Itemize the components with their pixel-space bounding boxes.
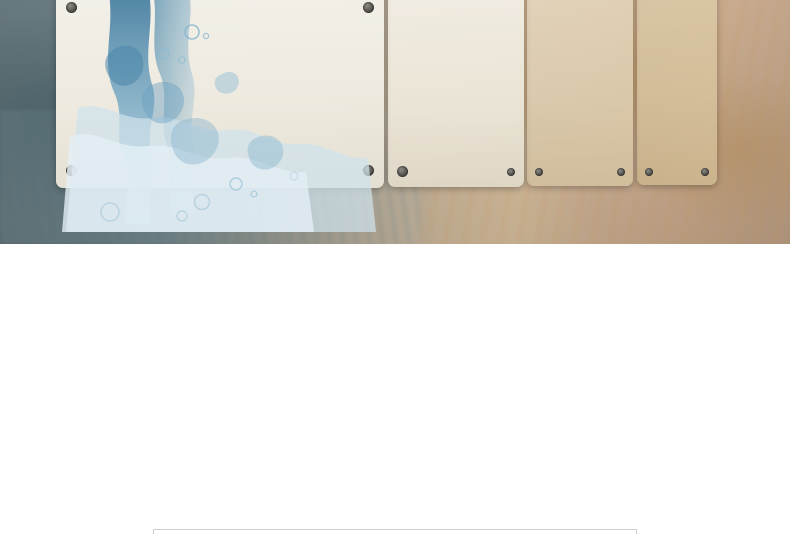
screw-icon bbox=[397, 166, 408, 177]
title-frame bbox=[153, 529, 637, 534]
screw-icon bbox=[363, 165, 374, 176]
enclosure-plate-2 bbox=[388, 0, 524, 187]
plate-sand-tint bbox=[637, 0, 717, 185]
enclosure-plate-4 bbox=[637, 0, 717, 185]
screw-icon bbox=[363, 2, 374, 13]
screw-icon bbox=[701, 168, 709, 176]
screw-icon bbox=[507, 168, 515, 176]
screw-icon bbox=[66, 2, 77, 13]
screw-icon bbox=[645, 168, 653, 176]
plate-sand-tint bbox=[527, 0, 633, 186]
screw-icon bbox=[617, 168, 625, 176]
enclosure-plate-3 bbox=[527, 0, 633, 186]
screw-icon bbox=[66, 165, 77, 176]
enclosure-plate-1 bbox=[56, 0, 384, 188]
product-banner bbox=[0, 0, 790, 244]
specifications-section: MORE PRODUCT SPECIFICATIONS XIAMEN YINGX… bbox=[0, 244, 790, 534]
screw-icon bbox=[535, 168, 543, 176]
